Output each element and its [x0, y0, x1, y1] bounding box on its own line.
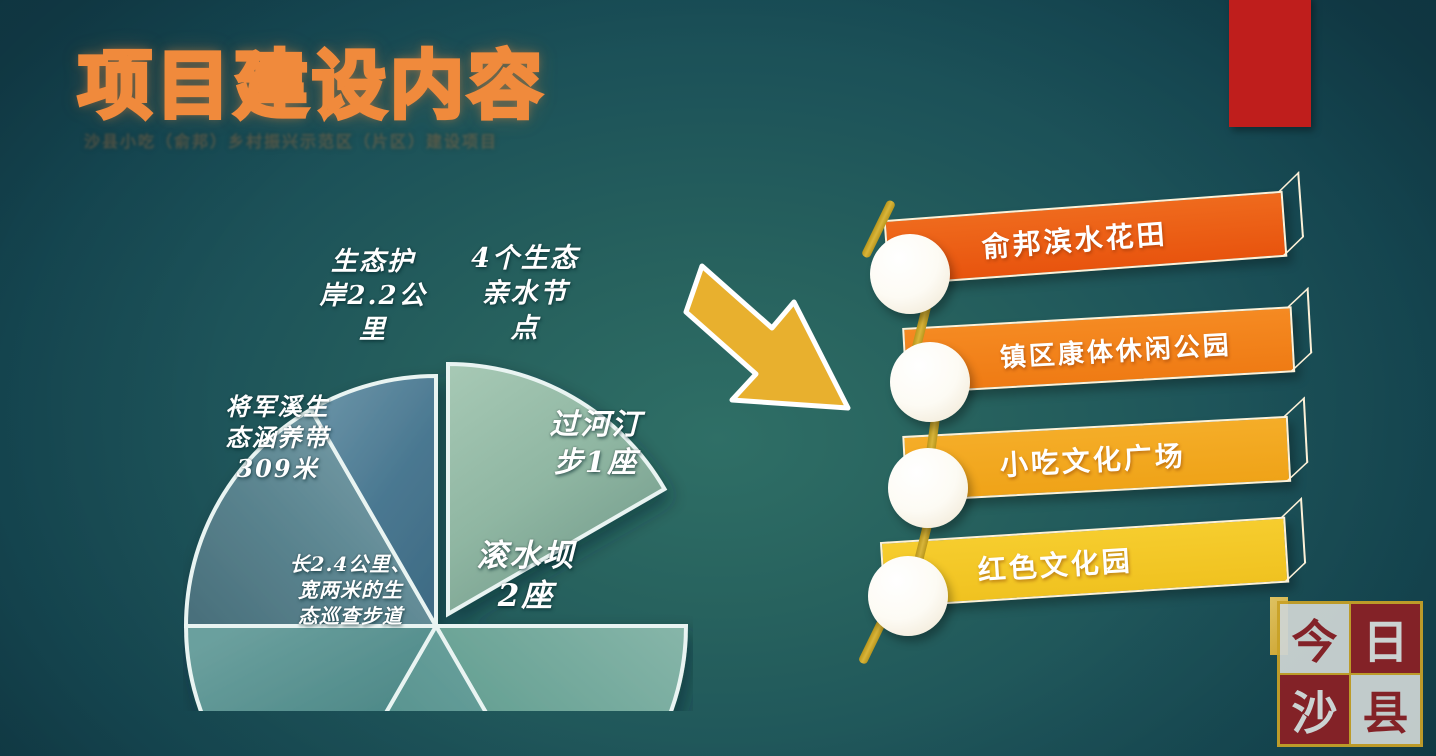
pie-slice-qinshui-exploded[interactable]: [448, 364, 665, 614]
watermark-logo: 今 日 沙 县: [1277, 601, 1423, 747]
watermark-cell-4: 县: [1350, 674, 1421, 745]
page-subtitle: 沙县小吃（俞邦）乡村振兴示范区（片区）建设项目: [84, 128, 546, 152]
watermark-cell-3: 沙: [1279, 674, 1350, 745]
down-right-arrow-icon: [676, 258, 876, 438]
skewer-dot-4: [868, 556, 948, 636]
page-title: 项目建设内容: [78, 48, 546, 126]
title-block: 项目建设内容 沙县小吃（俞邦）乡村振兴示范区（片区）建设项目: [78, 48, 546, 152]
flow-arrow: [676, 258, 876, 442]
banner-label-2: 镇区康体休闲公园: [999, 324, 1233, 374]
watermark-cell-1: 今: [1279, 603, 1350, 674]
banner-label-4: 红色文化园: [977, 539, 1134, 589]
pie-slices: [186, 364, 686, 711]
banner-label-1: 俞邦滨水花田: [980, 212, 1168, 266]
skewer-banner-list: 俞邦滨水花田 镇区康体休闲公园 小吃文化广场 红色文化园: [852, 190, 1322, 660]
pie-chart-svg: [183, 181, 693, 711]
skewer-dot-3: [888, 448, 968, 528]
pie-chart: 4个生态 亲水节 点 过河汀 步1座 滚水坝 2座 长2.4公里、 宽两米的生 …: [183, 181, 693, 711]
skewer-dot-2: [890, 342, 970, 422]
slide-canvas: 项目建设内容 沙县小吃（俞邦）乡村振兴示范区（片区）建设项目: [0, 0, 1436, 756]
watermark-cell-2: 日: [1350, 603, 1421, 674]
skewer-dot-1: [870, 234, 950, 314]
red-accent-bar: [1229, 0, 1311, 127]
banner-label-3: 小吃文化广场: [999, 434, 1187, 484]
